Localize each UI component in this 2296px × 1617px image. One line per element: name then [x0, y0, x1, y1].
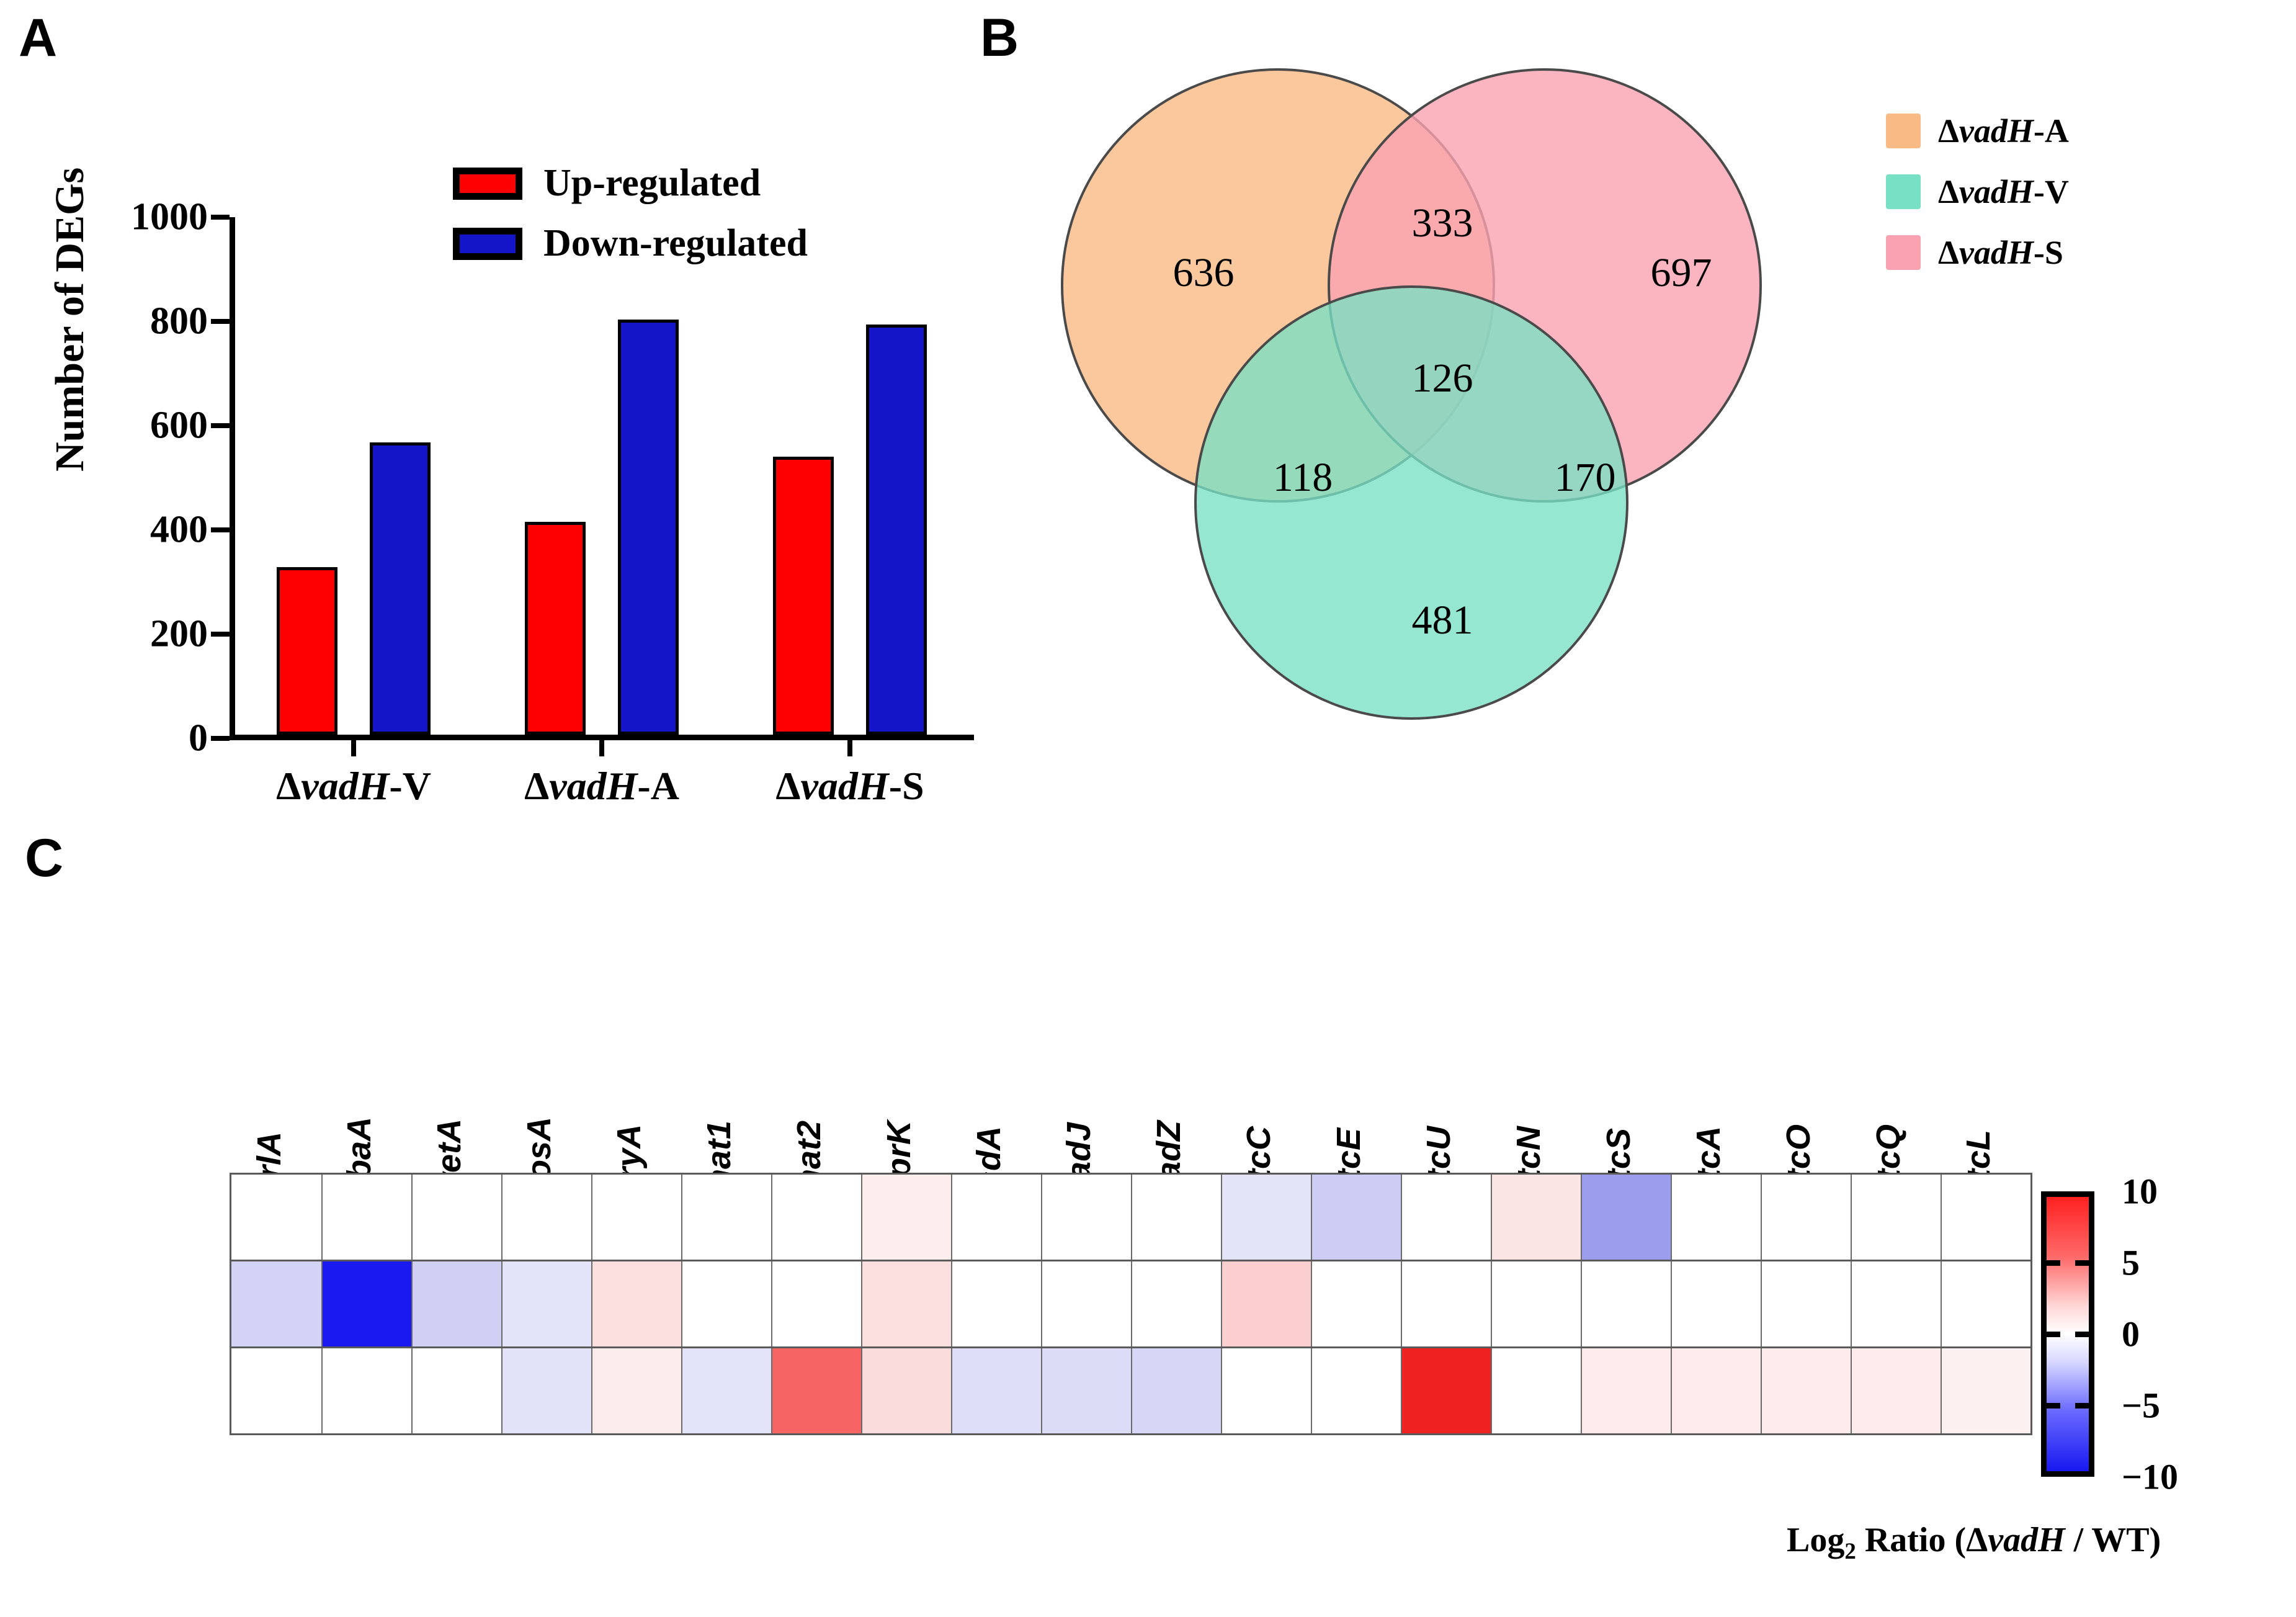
colorbar-label-0: 0 — [2122, 1314, 2140, 1355]
y-tick-label-600: 600 — [150, 404, 208, 448]
bar-vadHA-up — [525, 522, 586, 735]
heatmap-cell-vadHS-mat2 — [771, 1348, 861, 1433]
heatmap-cell-vadHS-lsdA — [951, 1348, 1041, 1433]
heatmap-cell-vadHA-stcA — [1671, 1261, 1761, 1346]
heatmap-cell-vadHV-stcU — [1401, 1175, 1491, 1260]
heatmap-cell-vadHA-vosA — [501, 1261, 591, 1346]
venn-count-s_v: 170 — [1555, 454, 1616, 501]
y-axis-line — [230, 217, 235, 738]
panel-a-bar-chart: A Number of DEGs Up-regulated Down-regul… — [0, 0, 968, 825]
heatmap-cell-vadHA-vadZ — [1131, 1261, 1221, 1346]
bar-vadHV-up — [277, 567, 337, 735]
heatmap-cell-vadHV-lsdA — [951, 1175, 1041, 1260]
heatmap-cell-vadHA-gprK — [861, 1261, 951, 1346]
heatmap-container: brlAabaAwetAvosAcryAmat1mat2gprKlsdAvadJ… — [230, 1173, 2032, 1435]
y-axis-title: Number of DEGs — [47, 168, 94, 472]
heatmap-cell-vadHV-mat2 — [771, 1175, 861, 1260]
heatmap-cell-vadHV-vadJ — [1041, 1175, 1131, 1260]
heatmap-cell-vadHS-wetA — [411, 1348, 501, 1433]
colorbar-label--5: −5 — [2122, 1385, 2160, 1427]
caption-subscript: 2 — [1844, 1538, 1856, 1564]
heatmap-cell-vadHS-stcN — [1491, 1348, 1581, 1433]
heatmap-cell-vadHS-vadJ — [1041, 1348, 1131, 1433]
heatmap-cell-vadHV-stcS — [1581, 1175, 1671, 1260]
panel-b-venn: B 636697481333118170126 ΔvadH-AΔvadH-VΔv… — [968, 0, 2296, 825]
caption-gene-italic: vadH — [1988, 1521, 2065, 1559]
venn-count-s_only: 697 — [1651, 249, 1712, 297]
y-tick-label-200: 200 — [150, 612, 208, 656]
heatmap-cell-vadHS-vosA — [501, 1348, 591, 1433]
venn-legend-swatch-icon-1 — [1886, 174, 1921, 209]
y-tick-label-400: 400 — [150, 508, 208, 552]
heatmap-cell-vadHS-stcU — [1401, 1348, 1491, 1433]
heatmap-cell-vadHV-wetA — [411, 1175, 501, 1260]
heatmap-cell-vadHA-stcO — [1761, 1261, 1851, 1346]
colorbar-tick-0-r — [2075, 1332, 2089, 1337]
heatmap-cell-vadHS-stcA — [1671, 1348, 1761, 1433]
heatmap-cell-vadHV-mat1 — [681, 1175, 771, 1260]
heatmap-cell-vadHV-stcC — [1221, 1175, 1311, 1260]
heatmap-cell-vadHS-stcQ — [1851, 1348, 1941, 1433]
y-tick-label-1000: 1000 — [131, 195, 208, 240]
y-tick-400 — [211, 527, 230, 532]
bar-vadHS-down — [866, 325, 927, 735]
y-tick-800 — [211, 319, 230, 324]
heatmap-cell-vadHA-stcE — [1311, 1261, 1401, 1346]
heatmap-cell-vadHS-stcE — [1311, 1348, 1401, 1433]
legend-swatch-up-icon — [453, 168, 522, 200]
heatmap-cell-vadHS-mat1 — [681, 1348, 771, 1433]
caption-prefix: Log — [1787, 1521, 1844, 1559]
heatmap-cell-vadHV-stcN — [1491, 1175, 1581, 1260]
x-tick-0 — [351, 740, 356, 756]
y-tick-600 — [211, 423, 230, 428]
venn-legend-swatch-icon-2 — [1886, 235, 1921, 270]
x-group-label-2: ΔvadH-S — [775, 763, 924, 809]
panel-b-letter: B — [980, 11, 1019, 65]
y-tick-0 — [211, 736, 230, 741]
venn-legend-item-v: ΔvadH-V — [1886, 172, 2069, 211]
bar-vadHV-down — [370, 442, 431, 735]
heatmap-cell-vadHA-stcC — [1221, 1261, 1311, 1346]
bar-vadHA-down — [618, 320, 679, 735]
heatmap-cell-vadHA-stcS — [1581, 1261, 1671, 1346]
panel-a-letter: A — [19, 11, 57, 65]
bar-vadHS-up — [773, 457, 834, 735]
heatmap-cell-vadHV-gprK — [861, 1175, 951, 1260]
caption-tail: / WT) — [2065, 1521, 2161, 1559]
heatmap-cell-vadHA-stcQ — [1851, 1261, 1941, 1346]
legend-label-up: Up-regulated — [543, 161, 761, 205]
heatmap-cell-vadHA-mat1 — [681, 1261, 771, 1346]
heatmap-cell-vadHA-stcL — [1941, 1261, 2030, 1346]
heatmap-cell-vadHS-vadZ — [1131, 1348, 1221, 1433]
x-group-label-0: ΔvadH-V — [276, 763, 431, 809]
heatmap-cell-vadHV-stcL — [1941, 1175, 2030, 1260]
venn-legend-label-2: ΔvadH-S — [1938, 233, 2063, 272]
colorbar-label-5: 5 — [2122, 1242, 2140, 1284]
heatmap-cell-vadHV-cryA — [591, 1175, 681, 1260]
x-group-label-1: ΔvadH-A — [524, 763, 679, 809]
heatmap-cell-vadHA-mat2 — [771, 1261, 861, 1346]
heatmap-cell-vadHA-vadJ — [1041, 1261, 1131, 1346]
heatmap-cell-vadHS-stcO — [1761, 1348, 1851, 1433]
venn-diagram: 636697481333118170126 — [1061, 68, 1824, 763]
heatmap-cell-vadHA-stcU — [1401, 1261, 1491, 1346]
heatmap-cell-vadHV-stcA — [1671, 1175, 1761, 1260]
caption-mid: Ratio (Δ — [1856, 1521, 1988, 1559]
colorbar-caption: Log2 Ratio (ΔvadH / WT) — [1787, 1520, 2161, 1564]
panel-c-letter: C — [25, 831, 63, 885]
heatmap-cell-vadHV-brlA — [231, 1175, 321, 1260]
venn-legend: ΔvadH-AΔvadH-VΔvadH-S — [1886, 112, 2069, 294]
heatmap-cell-vadHS-abaA — [321, 1348, 411, 1433]
venn-count-v_only: 481 — [1412, 597, 1473, 644]
venn-legend-label-0: ΔvadH-A — [1938, 112, 2069, 150]
colorbar-gradient — [2041, 1191, 2094, 1477]
venn-count-a_only: 636 — [1173, 249, 1235, 297]
colorbar-tick--5-l — [2047, 1403, 2060, 1409]
venn-count-a_v: 118 — [1273, 454, 1333, 501]
heatmap-cell-vadHV-stcQ — [1851, 1175, 1941, 1260]
venn-count-a_s: 333 — [1412, 200, 1473, 247]
heatmap-cell-vadHS-stcS — [1581, 1348, 1671, 1433]
x-tick-1 — [599, 740, 604, 756]
colorbar-label-10: 10 — [2122, 1171, 2158, 1212]
bar-chart-plot-area: 02004006008001000 ΔvadH-VΔvadH-AΔvadH-S — [230, 217, 974, 738]
heatmap-cell-vadHS-stcL — [1941, 1348, 2030, 1433]
heatmap-cell-vadHA-abaA — [321, 1261, 411, 1346]
heatmap-cell-vadHA-stcN — [1491, 1261, 1581, 1346]
heatmap-cell-vadHV-vadZ — [1131, 1175, 1221, 1260]
heatmap-grid — [230, 1173, 2032, 1435]
y-tick-1000 — [211, 215, 230, 220]
heatmap-cell-vadHV-stcE — [1311, 1175, 1401, 1260]
heatmap-cell-vadHS-gprK — [861, 1348, 951, 1433]
y-tick-label-800: 800 — [150, 300, 208, 344]
colorbar-tick-5-l — [2047, 1260, 2060, 1266]
venn-legend-label-1: ΔvadH-V — [1938, 172, 2069, 211]
venn-count-a_s_v: 126 — [1412, 355, 1473, 402]
panel-c-heatmap: C brlAabaAwetAvosAcryAmat1mat2gprKlsdAva… — [0, 825, 2296, 1617]
colorbar-tick-5-r — [2075, 1260, 2089, 1266]
heatmap-cell-vadHV-stcO — [1761, 1175, 1851, 1260]
colorbar-tick--5-r — [2075, 1403, 2089, 1409]
venn-legend-item-a: ΔvadH-A — [1886, 112, 2069, 150]
colorbar-tick-0-l — [2047, 1332, 2060, 1337]
heatmap-cell-vadHS-cryA — [591, 1348, 681, 1433]
heatmap-cell-vadHV-vosA — [501, 1175, 591, 1260]
y-tick-label-0: 0 — [189, 717, 208, 761]
heatmap-cell-vadHA-cryA — [591, 1261, 681, 1346]
legend-item-up-regulated: Up-regulated — [453, 161, 808, 205]
heatmap-cell-vadHS-brlA — [231, 1348, 321, 1433]
heatmap-cell-vadHS-stcC — [1221, 1348, 1311, 1433]
heatmap-cell-vadHA-brlA — [231, 1261, 321, 1346]
heatmap-cell-vadHA-wetA — [411, 1261, 501, 1346]
heatmap-cell-vadHA-lsdA — [951, 1261, 1041, 1346]
heatmap-row — [231, 1346, 2030, 1433]
heatmap-cell-vadHV-abaA — [321, 1175, 411, 1260]
x-axis-line — [230, 735, 974, 740]
venn-legend-swatch-icon-0 — [1886, 114, 1921, 148]
venn-circle-vadh-v — [1194, 285, 1628, 720]
y-tick-200 — [211, 632, 230, 637]
heatmap-row — [231, 1260, 2030, 1346]
venn-legend-item-s: ΔvadH-S — [1886, 233, 2069, 272]
heatmap-row — [231, 1175, 2030, 1260]
colorbar-label--10: −10 — [2122, 1456, 2178, 1498]
x-tick-2 — [847, 740, 852, 756]
